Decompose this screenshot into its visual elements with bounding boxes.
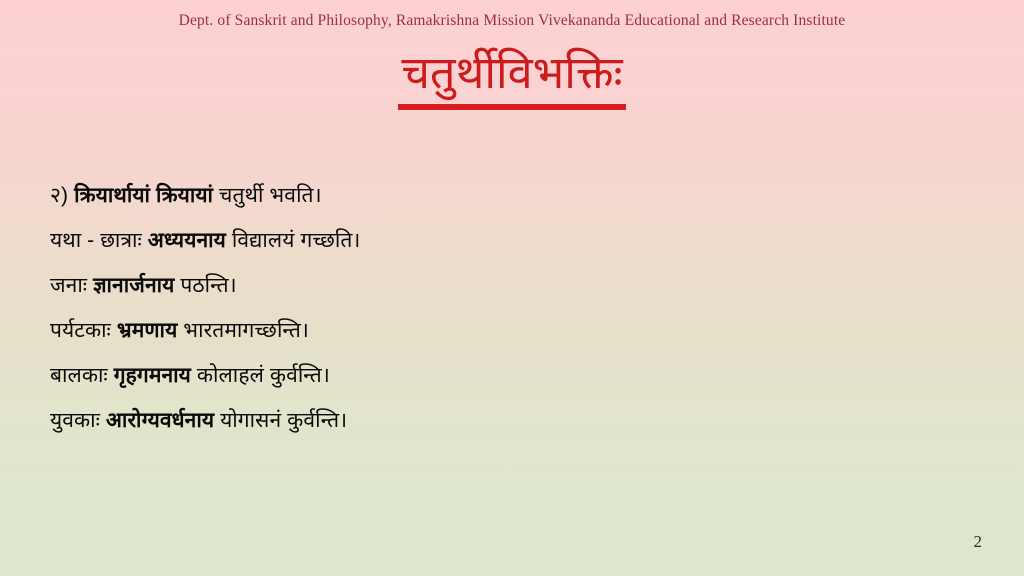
line-text-post: योगासनं कुर्वन्ति। — [214, 409, 347, 432]
page-title: चतुर्थीविभक्तिः — [398, 46, 625, 110]
line-text-emphasis: भ्रमणाय — [117, 319, 178, 342]
line-text-pre: युवकाः — [50, 409, 106, 432]
body-line: २) क्रियार्थायां क्रियायां चतुर्थी भवति। — [50, 173, 950, 218]
body-line: जनाः ज्ञानार्जनाय पठन्ति। — [50, 263, 950, 308]
line-text-pre: यथा - छात्राः — [50, 229, 148, 252]
body-line: युवकाः आरोग्यवर्धनाय योगासनं कुर्वन्ति। — [50, 398, 950, 443]
slide-title-container: चतुर्थीविभक्तिः — [0, 46, 1024, 110]
page-number: 2 — [974, 532, 983, 552]
body-line: यथा - छात्राः अध्ययनाय विद्यालयं गच्छति। — [50, 218, 950, 263]
line-text-emphasis: अध्ययनाय — [148, 229, 226, 252]
line-text-emphasis: गृहगमनाय — [114, 364, 191, 387]
body-line: बालकाः गृहगमनाय कोलाहलं कुर्वन्ति। — [50, 353, 950, 398]
line-text-post: भारतमागच्छन्ति। — [177, 319, 309, 342]
line-text-emphasis: ज्ञानार्जनाय — [93, 274, 174, 297]
line-text-post: पठन्ति। — [174, 274, 236, 297]
slide-header-institution: Dept. of Sanskrit and Philosophy, Ramakr… — [0, 11, 1024, 31]
slide-body: २) क्रियार्थायां क्रियायां चतुर्थी भवति।… — [50, 173, 950, 443]
body-line: पर्यटकाः भ्रमणाय भारतमागच्छन्ति। — [50, 308, 950, 353]
list-marker: २) — [50, 184, 74, 207]
presentation-slide: Dept. of Sanskrit and Philosophy, Ramakr… — [0, 0, 1024, 576]
line-text-pre: बालकाः — [50, 364, 114, 387]
line-text-post: कोलाहलं कुर्वन्ति। — [191, 364, 330, 387]
line-text-emphasis: क्रियार्थायां क्रियायां — [74, 184, 213, 207]
line-text-pre: जनाः — [50, 274, 93, 297]
line-text-post: विद्यालयं गच्छति। — [226, 229, 361, 252]
line-text-pre: पर्यटकाः — [50, 319, 117, 342]
line-text-post: चतुर्थी भवति। — [213, 184, 322, 207]
line-text-emphasis: आरोग्यवर्धनाय — [106, 409, 214, 432]
